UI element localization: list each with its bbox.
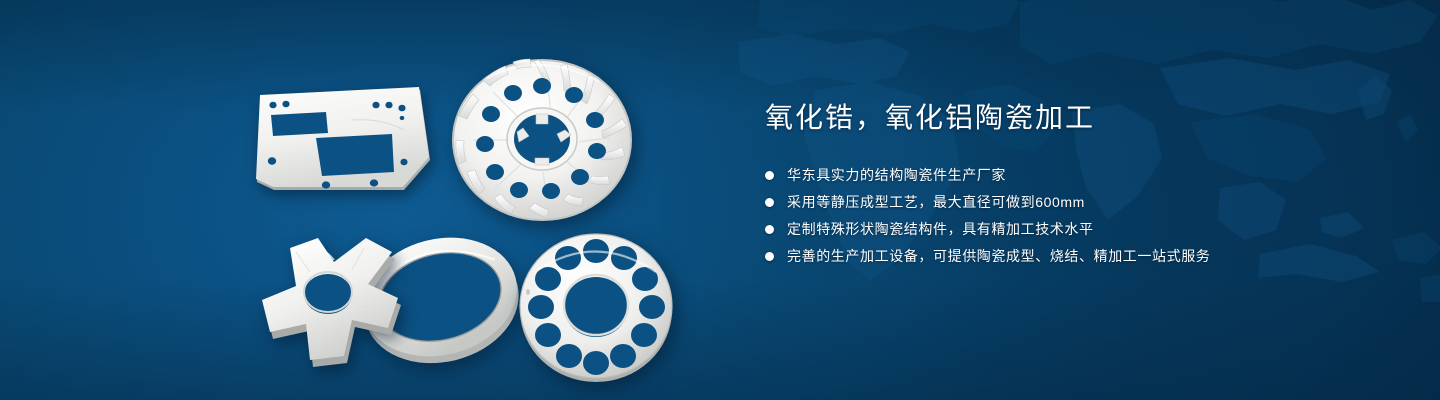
list-item: 采用等静压成型工艺，最大直径可做到600mm — [765, 191, 1325, 213]
page-title: 氧化锆，氧化铝陶瓷加工 — [765, 100, 1325, 136]
list-item: 华东具实力的结构陶瓷件生产厂家 — [765, 164, 1325, 186]
machined-ceramic-plate — [252, 84, 436, 196]
feature-text: 定制特殊形状陶瓷结构件，具有精加工技术水平 — [787, 219, 1094, 239]
bullet-dot-icon — [765, 252, 774, 261]
bullet-dot-icon — [765, 198, 774, 207]
ceramic-product-banner: 氧化锆，氧化铝陶瓷加工 华东具实力的结构陶瓷件生产厂家 采用等静压成型工艺，最大… — [0, 0, 1440, 400]
feature-list: 华东具实力的结构陶瓷件生产厂家 采用等静压成型工艺，最大直径可做到600mm 定… — [765, 164, 1325, 267]
bullet-dot-icon — [765, 171, 774, 180]
bullet-dot-icon — [765, 225, 774, 234]
cross-vane-part — [248, 222, 408, 368]
feature-text: 华东具实力的结构陶瓷件生产厂家 — [787, 165, 1006, 185]
feature-text: 完善的生产加工设备，可提供陶瓷成型、烧结、精加工一站式服务 — [787, 246, 1210, 266]
banner-copy: 氧化锆，氧化铝陶瓷加工 华东具实力的结构陶瓷件生产厂家 采用等静压成型工艺，最大… — [765, 100, 1325, 272]
feature-text: 采用等静压成型工艺，最大直径可做到600mm — [787, 192, 1085, 212]
list-item: 完善的生产加工设备，可提供陶瓷成型、烧结、精加工一站式服务 — [765, 245, 1325, 267]
list-item: 定制特殊形状陶瓷结构件，具有精加工技术水平 — [765, 218, 1325, 240]
holed-flange-disc — [516, 226, 678, 386]
ceramic-impeller — [447, 48, 637, 224]
product-photo-group — [0, 0, 740, 400]
